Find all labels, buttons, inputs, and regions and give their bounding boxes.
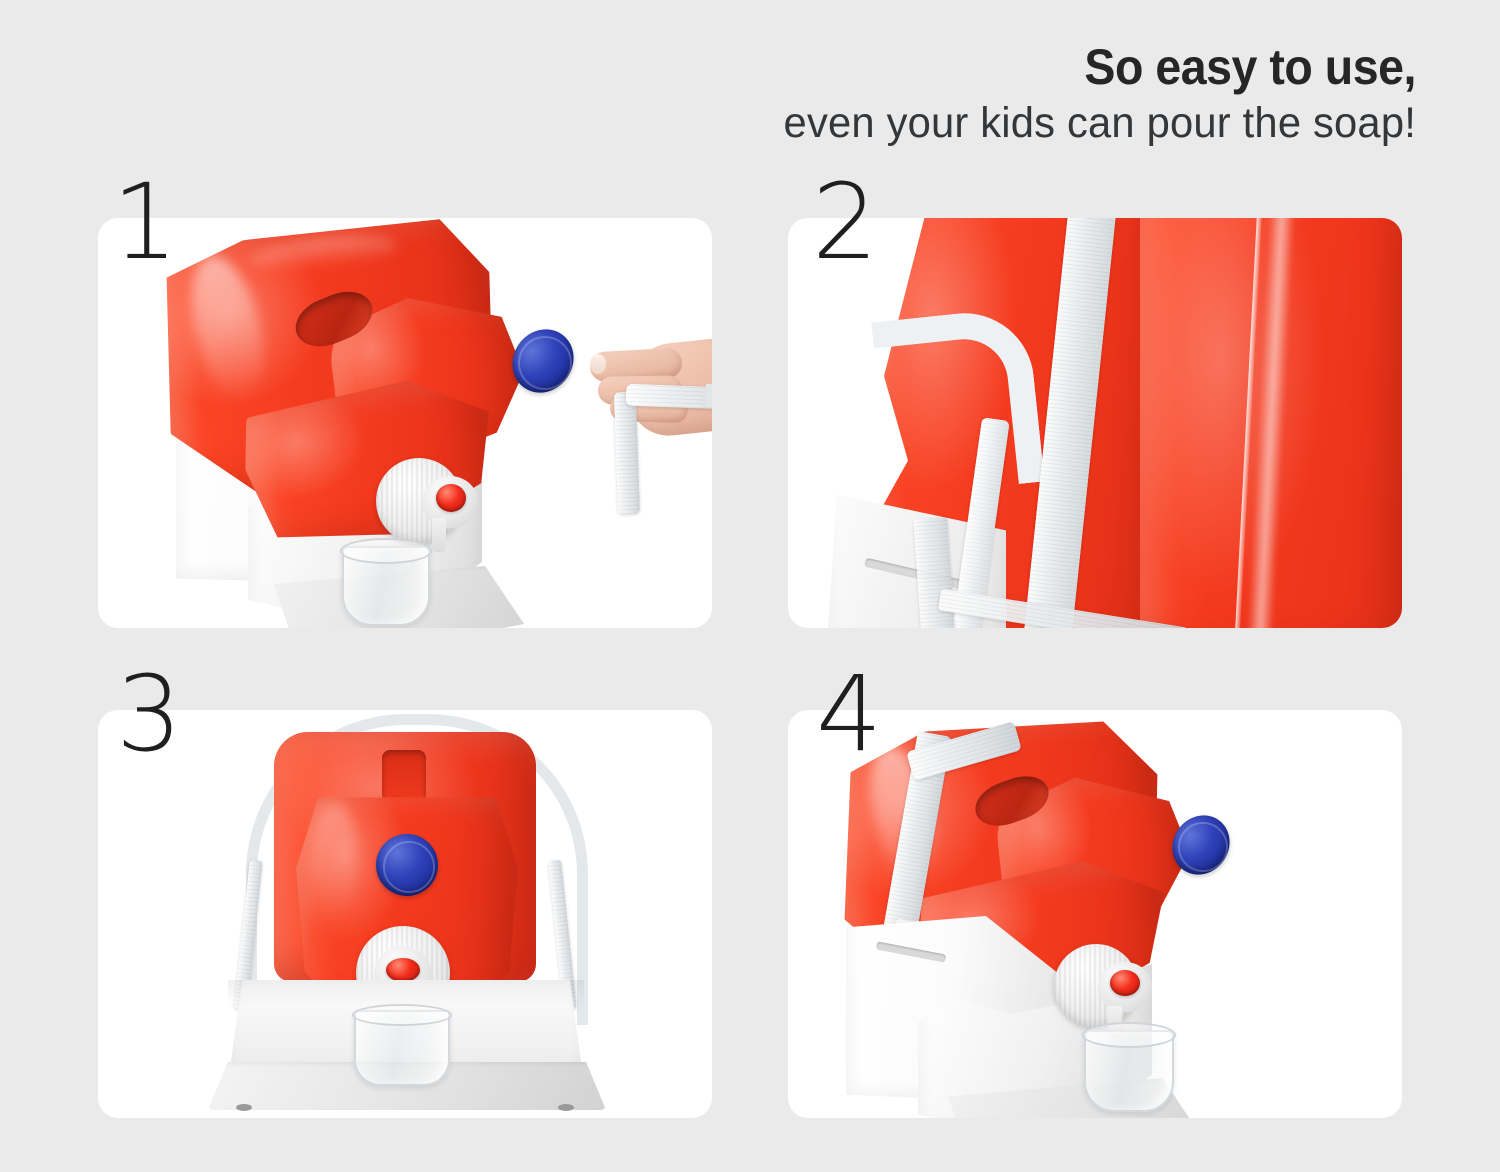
cap-ring <box>518 336 572 390</box>
step-3-illustration <box>98 710 712 1118</box>
fingernail <box>590 354 606 374</box>
step-number-2: 2 <box>812 170 878 274</box>
headline-block: So easy to use, even your kids can pour … <box>764 42 1416 145</box>
spigot-button-secured[interactable] <box>1110 970 1140 996</box>
step-card-1 <box>98 218 712 628</box>
step-card-2 <box>788 218 1402 628</box>
spigot-spout <box>432 518 446 552</box>
tray-foot-left <box>236 1104 252 1111</box>
infographic-stage: So easy to use, even your kids can pour … <box>0 0 1500 1172</box>
step-2-illustration <box>788 218 1402 628</box>
step-card-3 <box>98 710 712 1118</box>
velcro-strap-bend <box>706 384 712 462</box>
cup-rim-secured <box>1082 1022 1176 1048</box>
velcro-strap-left-tail <box>614 392 640 515</box>
bottle-rear-groove <box>382 750 426 802</box>
tray-foot-right <box>558 1104 574 1111</box>
step-number-1: 1 <box>112 170 178 274</box>
headline-line-1: So easy to use, <box>810 42 1416 92</box>
cap-ring-front <box>383 841 435 893</box>
cap-ring-secured <box>1178 822 1228 872</box>
step-1-illustration <box>98 218 712 628</box>
step-number-3: 3 <box>116 662 182 766</box>
cup-rim <box>340 538 432 564</box>
spigot-button-front[interactable] <box>386 958 420 982</box>
spigot-button[interactable] <box>436 484 466 512</box>
step-number-4: 4 <box>816 662 882 766</box>
cup-rim-front <box>352 1004 452 1026</box>
headline-line-2: even your kids can pour the soap! <box>784 102 1416 145</box>
stand-front-shade <box>228 980 584 1006</box>
